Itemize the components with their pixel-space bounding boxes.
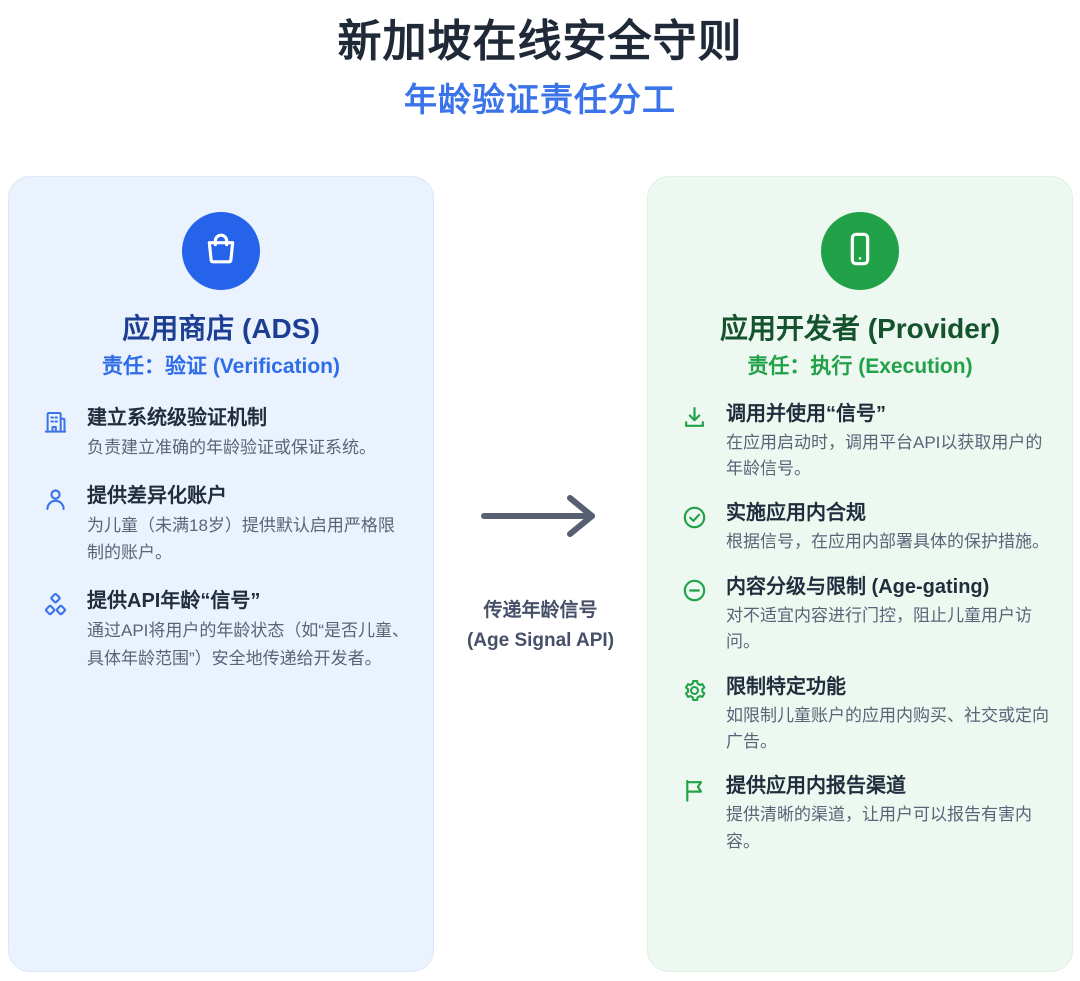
list-item-desc: 提供清晰的渠道，让用户可以报告有害内容。 bbox=[726, 802, 1050, 855]
card-app-provider-title: 应用开发者 (Provider) bbox=[648, 312, 1072, 346]
list-item-desc: 在应用启动时，调用平台API以获取用户的年龄信号。 bbox=[726, 430, 1050, 483]
list-item: 提供API年龄“信号” 通过API将用户的年龄状态（如“是否儿童、具体年龄范围”… bbox=[39, 588, 411, 671]
list-item-title: 提供应用内报告渠道 bbox=[726, 773, 1050, 799]
page-subtitle: 年龄验证责任分工 bbox=[0, 79, 1080, 122]
list-item-title: 限制特定功能 bbox=[726, 674, 1050, 700]
building-icon bbox=[39, 406, 71, 438]
list-item-desc: 为儿童（未满18岁）提供默认启用严格限制的账户。 bbox=[87, 512, 411, 566]
check-circle-icon bbox=[678, 501, 710, 533]
list-item-body: 内容分级与限制 (Age-gating) 对不适宜内容进行门控，阻止儿童用户访问… bbox=[726, 574, 1050, 656]
page-title: 新加坡在线安全守则 bbox=[0, 14, 1080, 69]
card-app-provider: 应用开发者 (Provider) 责任：执行 (Execution) 调 bbox=[647, 176, 1073, 972]
shopping-bag-icon bbox=[201, 229, 241, 274]
list-item-title: 实施应用内合规 bbox=[726, 500, 1050, 526]
list-item-body: 调用并使用“信号” 在应用启动时，调用平台API以获取用户的年龄信号。 bbox=[726, 401, 1050, 483]
list-item-body: 实施应用内合规 根据信号，在应用内部署具体的保护措施。 bbox=[726, 500, 1050, 555]
download-icon bbox=[678, 402, 710, 434]
card-app-store-title: 应用商店 (ADS) bbox=[9, 312, 433, 346]
connector-label-cn: 传递年龄信号 bbox=[483, 596, 597, 625]
list-item-title: 建立系统级验证机制 bbox=[87, 405, 411, 431]
list-item: 提供应用内报告渠道 提供清晰的渠道，让用户可以报告有害内容。 bbox=[678, 773, 1050, 855]
card-app-provider-subtitle: 责任：执行 (Execution) bbox=[648, 354, 1072, 379]
list-item-title: 调用并使用“信号” bbox=[726, 401, 1050, 427]
list-item: 提供差异化账户 为儿童（未满18岁）提供默认启用严格限制的账户。 bbox=[39, 483, 411, 566]
arrow-right-icon bbox=[478, 493, 603, 544]
api-diamonds-icon bbox=[39, 589, 71, 621]
shopping-bag-icon-badge bbox=[182, 212, 260, 290]
list-item: 限制特定功能 如限制儿童账户的应用内购买、社交或定向广告。 bbox=[678, 674, 1050, 756]
list-item: 建立系统级验证机制 负责建立准确的年龄验证或保证系统。 bbox=[39, 405, 411, 461]
card-app-store-header: 应用商店 (ADS) 责任：验证 (Verification) bbox=[9, 177, 433, 379]
mobile-phone-icon-badge bbox=[821, 212, 899, 290]
list-item-body: 提供API年龄“信号” 通过API将用户的年龄状态（如“是否儿童、具体年龄范围”… bbox=[87, 588, 411, 671]
list-item-desc: 如限制儿童账户的应用内购买、社交或定向广告。 bbox=[726, 703, 1050, 756]
connector-label-en: (Age Signal API) bbox=[467, 626, 614, 655]
gear-icon bbox=[678, 675, 710, 707]
app-provider-responsibility-list: 调用并使用“信号” 在应用启动时，调用平台API以获取用户的年龄信号。 实施应用… bbox=[648, 401, 1072, 855]
card-app-provider-header: 应用开发者 (Provider) 责任：执行 (Execution) bbox=[648, 177, 1072, 379]
app-store-responsibility-list: 建立系统级验证机制 负责建立准确的年龄验证或保证系统。 提供差异化账户 为儿童（… bbox=[9, 405, 433, 672]
list-item-desc: 对不适宜内容进行门控，阻止儿童用户访问。 bbox=[726, 603, 1050, 656]
list-item-body: 限制特定功能 如限制儿童账户的应用内购买、社交或定向广告。 bbox=[726, 674, 1050, 756]
infographic-root: 新加坡在线安全守则 年龄验证责任分工 应用商店 (ADS) 责任：验证 (Ver… bbox=[0, 0, 1080, 981]
header: 新加坡在线安全守则 年龄验证责任分工 bbox=[0, 0, 1080, 122]
list-item-desc: 负责建立准确的年龄验证或保证系统。 bbox=[87, 434, 411, 461]
list-item: 内容分级与限制 (Age-gating) 对不适宜内容进行门控，阻止儿童用户访问… bbox=[678, 574, 1050, 656]
mobile-phone-icon bbox=[840, 229, 880, 274]
list-item: 实施应用内合规 根据信号，在应用内部署具体的保护措施。 bbox=[678, 500, 1050, 555]
list-item-title: 提供API年龄“信号” bbox=[87, 588, 411, 614]
minus-circle-icon bbox=[678, 575, 710, 607]
card-app-store: 应用商店 (ADS) 责任：验证 (Verification) bbox=[8, 176, 434, 972]
list-item-body: 提供差异化账户 为儿童（未满18岁）提供默认启用严格限制的账户。 bbox=[87, 483, 411, 566]
list-item: 调用并使用“信号” 在应用启动时，调用平台API以获取用户的年龄信号。 bbox=[678, 401, 1050, 483]
list-item-body: 提供应用内报告渠道 提供清晰的渠道，让用户可以报告有害内容。 bbox=[726, 773, 1050, 855]
list-item-desc: 根据信号，在应用内部署具体的保护措施。 bbox=[726, 529, 1050, 555]
list-item-body: 建立系统级验证机制 负责建立准确的年龄验证或保证系统。 bbox=[87, 405, 411, 461]
flag-icon bbox=[678, 774, 710, 806]
person-icon bbox=[39, 484, 71, 516]
list-item-title: 内容分级与限制 (Age-gating) bbox=[726, 574, 1050, 600]
list-item-desc: 通过API将用户的年龄状态（如“是否儿童、具体年龄范围”）安全地传递给开发者。 bbox=[87, 617, 411, 671]
list-item-title: 提供差异化账户 bbox=[87, 483, 411, 509]
connector: 传递年龄信号 (Age Signal API) bbox=[434, 176, 647, 972]
card-app-store-subtitle: 责任：验证 (Verification) bbox=[9, 354, 433, 379]
